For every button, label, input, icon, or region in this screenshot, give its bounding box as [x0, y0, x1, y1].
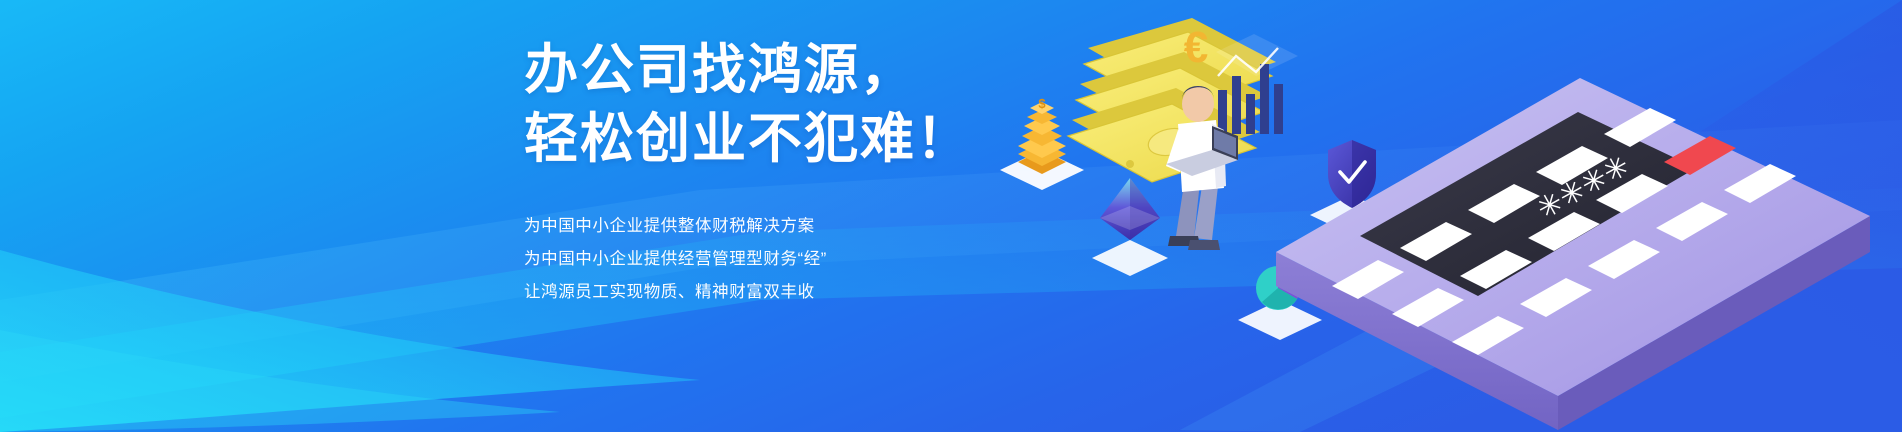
banner-copy: 办公司找鸿源， 轻松创业不犯难！ 为中国中小企业提供整体财税解决方案 为中国中小… [524, 38, 994, 309]
calculator-illustration: ✳✳✳✳ [1276, 78, 1870, 430]
hero-banner: 办公司找鸿源， 轻松创业不犯难！ 为中国中小企业提供整体财税解决方案 为中国中小… [0, 0, 1902, 432]
subtitle-line-3: 让鸿源员工实现物质、精神财富双丰收 [524, 276, 994, 309]
illustration-svg: $ € [980, 0, 1902, 432]
headline-line-1: 办公司找鸿源， [524, 38, 994, 103]
svg-text:€: € [1184, 23, 1208, 72]
svg-text:$: $ [1038, 96, 1046, 111]
coin-stack-icon: $ [1018, 96, 1066, 174]
euro-symbol-icon: € [1184, 23, 1208, 72]
shield-icon [1328, 140, 1376, 208]
subtitle-list: 为中国中小企业提供整体财税解决方案 为中国中小企业提供经营管理型财务“经” 让鸿… [524, 210, 994, 309]
ethereum-diamond-icon [1100, 178, 1160, 240]
subtitle-line-2: 为中国中小企业提供经营管理型财务“经” [524, 243, 994, 276]
finance-illustration: $ € [980, 0, 1902, 432]
person-head [1182, 86, 1214, 122]
headline-line-2: 轻松创业不犯难！ [524, 107, 994, 172]
subtitle-line-1: 为中国中小企业提供整体财税解决方案 [524, 210, 994, 243]
platform-ethereum [1092, 240, 1168, 276]
